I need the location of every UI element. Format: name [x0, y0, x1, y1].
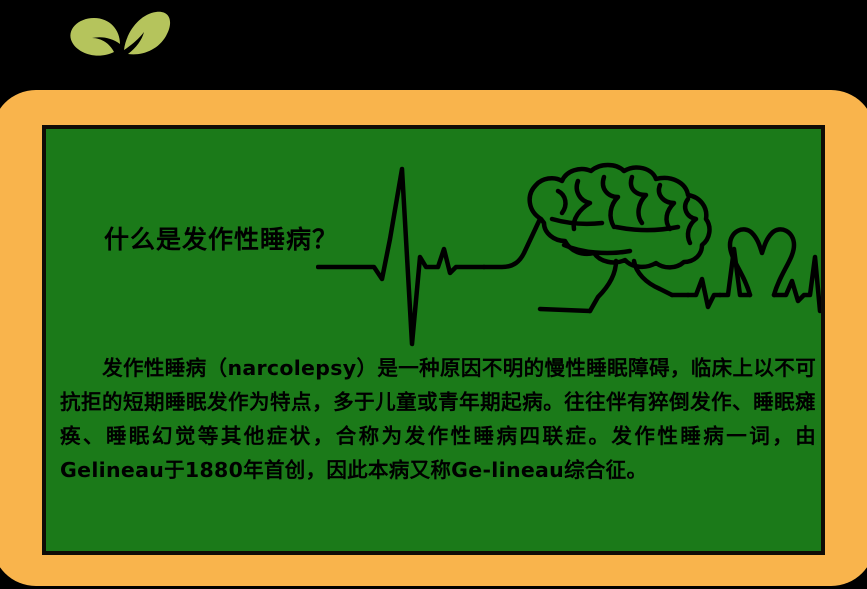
- poster-canvas: 什么是发作性睡病？: [0, 0, 867, 589]
- page-title: 什么是发作性睡病？: [104, 227, 338, 252]
- heart-icon: [720, 229, 825, 311]
- body-paragraph: 发作性睡病（narcolepsy）是一种原因不明的慢性睡眠障碍，临床上以不可抗拒…: [60, 351, 816, 487]
- sprout-logo: [62, 4, 174, 100]
- ecg-brain-heart-illustration: [316, 161, 825, 356]
- body-paragraph-text: 发作性睡病（narcolepsy）是一种原因不明的慢性睡眠障碍，临床上以不可抗拒…: [60, 356, 816, 482]
- sprout-icon: [62, 4, 174, 100]
- green-board: 什么是发作性睡病？: [42, 125, 825, 555]
- ecg-waveform-icon: [316, 161, 825, 356]
